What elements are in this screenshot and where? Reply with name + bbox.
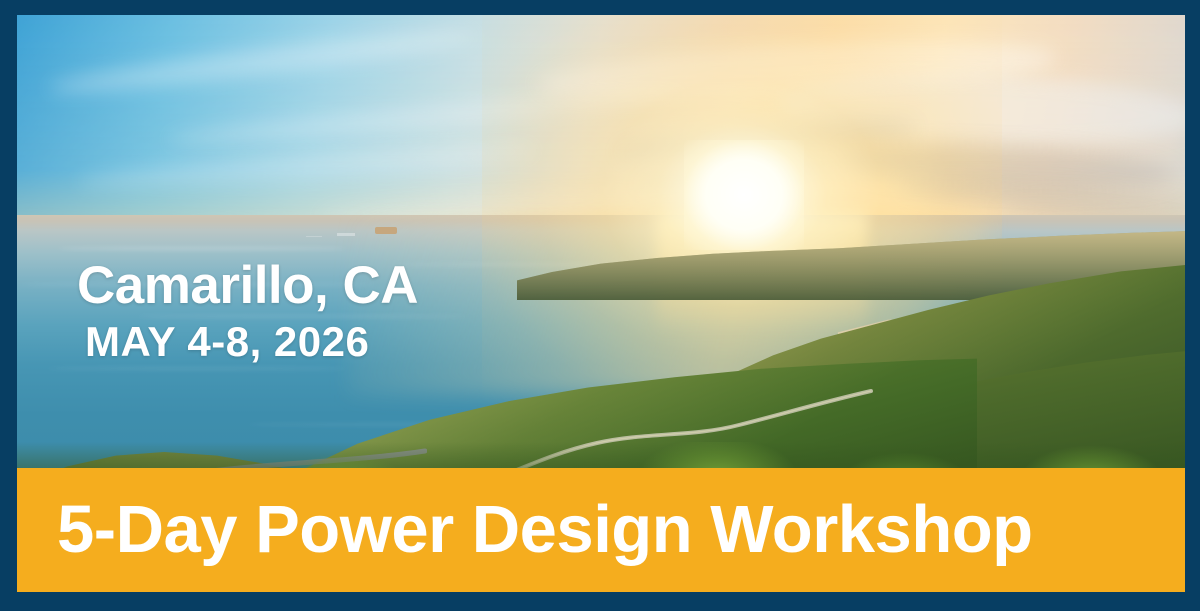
workshop-promo-banner: Camarillo, CA MAY 4-8, 2026 5-Day Power … bbox=[0, 0, 1200, 611]
title-banner: 5-Day Power Design Workshop bbox=[17, 468, 1185, 592]
dates-text: MAY 4-8, 2026 bbox=[85, 320, 418, 364]
location-text: Camarillo, CA bbox=[77, 258, 418, 314]
headline-block: Camarillo, CA MAY 4-8, 2026 bbox=[77, 258, 418, 364]
workshop-title: 5-Day Power Design Workshop bbox=[57, 493, 1033, 567]
